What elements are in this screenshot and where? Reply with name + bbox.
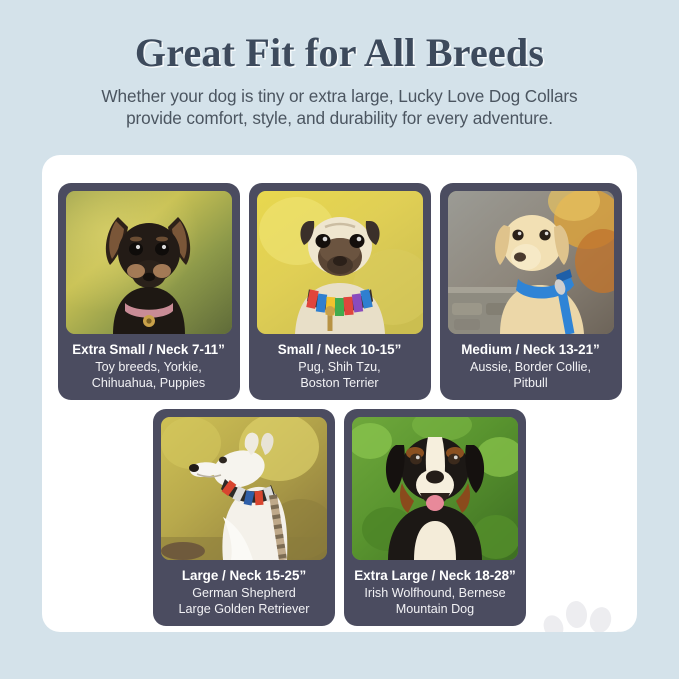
page-subtitle-line-1: Whether your dog is tiny or extra large,… bbox=[0, 85, 679, 107]
card-breeds-line-2: Chihuahua, Puppies bbox=[92, 376, 205, 392]
breed-size-row-top: Extra Small / Neck 7-11” Toy breeds, Yor… bbox=[42, 183, 637, 400]
page-title: Great Fit for All Breeds bbox=[0, 30, 679, 76]
card-heading-extra-large: Extra Large / Neck 18-28” bbox=[354, 568, 516, 584]
card-breeds-line-2: Mountain Dog bbox=[364, 602, 505, 618]
page-subtitle-line-2: provide comfort, style, and durability f… bbox=[0, 107, 679, 129]
card-breeds-medium: Aussie, Border Collie, Pitbull bbox=[470, 360, 591, 391]
card-breeds-line-1: Toy breeds, Yorkie, bbox=[92, 360, 205, 376]
card-breeds-extra-large: Irish Wolfhound, Bernese Mountain Dog bbox=[364, 586, 505, 617]
card-heading-small: Small / Neck 10-15” bbox=[278, 342, 402, 358]
page-subtitle: Whether your dog is tiny or extra large,… bbox=[0, 85, 679, 129]
card-breeds-small: Pug, Shih Tzu, Boston Terrier bbox=[298, 360, 380, 391]
card-breeds-large: German Shepherd Large Golden Retriever bbox=[179, 586, 310, 617]
card-breeds-line-2: Large Golden Retriever bbox=[179, 602, 310, 618]
breed-size-grid: Extra Small / Neck 7-11” Toy breeds, Yor… bbox=[42, 155, 637, 626]
size-chart-panel: Extra Small / Neck 7-11” Toy breeds, Yor… bbox=[42, 155, 637, 632]
dog-photo-extra-large bbox=[352, 417, 518, 560]
card-breeds-line-2: Pitbull bbox=[470, 376, 591, 392]
breed-size-card-extra-large[interactable]: Extra Large / Neck 18-28” Irish Wolfhoun… bbox=[344, 409, 526, 626]
dog-photo-large bbox=[161, 417, 327, 560]
breed-size-row-bottom: Large / Neck 15-25” German Shepherd Larg… bbox=[42, 409, 637, 626]
breed-size-card-small[interactable]: Small / Neck 10-15” Pug, Shih Tzu, Bosto… bbox=[249, 183, 431, 400]
card-breeds-line-1: Irish Wolfhound, Bernese bbox=[364, 586, 505, 602]
dog-photo-extra-small bbox=[66, 191, 232, 334]
card-heading-medium: Medium / Neck 13-21” bbox=[461, 342, 599, 358]
card-heading-extra-small: Extra Small / Neck 7-11” bbox=[72, 342, 225, 358]
dog-photo-medium bbox=[448, 191, 614, 334]
card-breeds-line-1: Aussie, Border Collie, bbox=[470, 360, 591, 376]
card-breeds-line-1: German Shepherd bbox=[179, 586, 310, 602]
card-breeds-extra-small: Toy breeds, Yorkie, Chihuahua, Puppies bbox=[92, 360, 205, 391]
breed-size-card-large[interactable]: Large / Neck 15-25” German Shepherd Larg… bbox=[153, 409, 335, 626]
card-breeds-line-1: Pug, Shih Tzu, bbox=[298, 360, 380, 376]
card-breeds-line-2: Boston Terrier bbox=[298, 376, 380, 392]
breed-size-card-extra-small[interactable]: Extra Small / Neck 7-11” Toy breeds, Yor… bbox=[58, 183, 240, 400]
dog-photo-small bbox=[257, 191, 423, 334]
card-heading-large: Large / Neck 15-25” bbox=[182, 568, 306, 584]
breed-size-card-medium[interactable]: Medium / Neck 13-21” Aussie, Border Coll… bbox=[440, 183, 622, 400]
page-header: Great Fit for All Breeds Whether your do… bbox=[0, 0, 679, 129]
